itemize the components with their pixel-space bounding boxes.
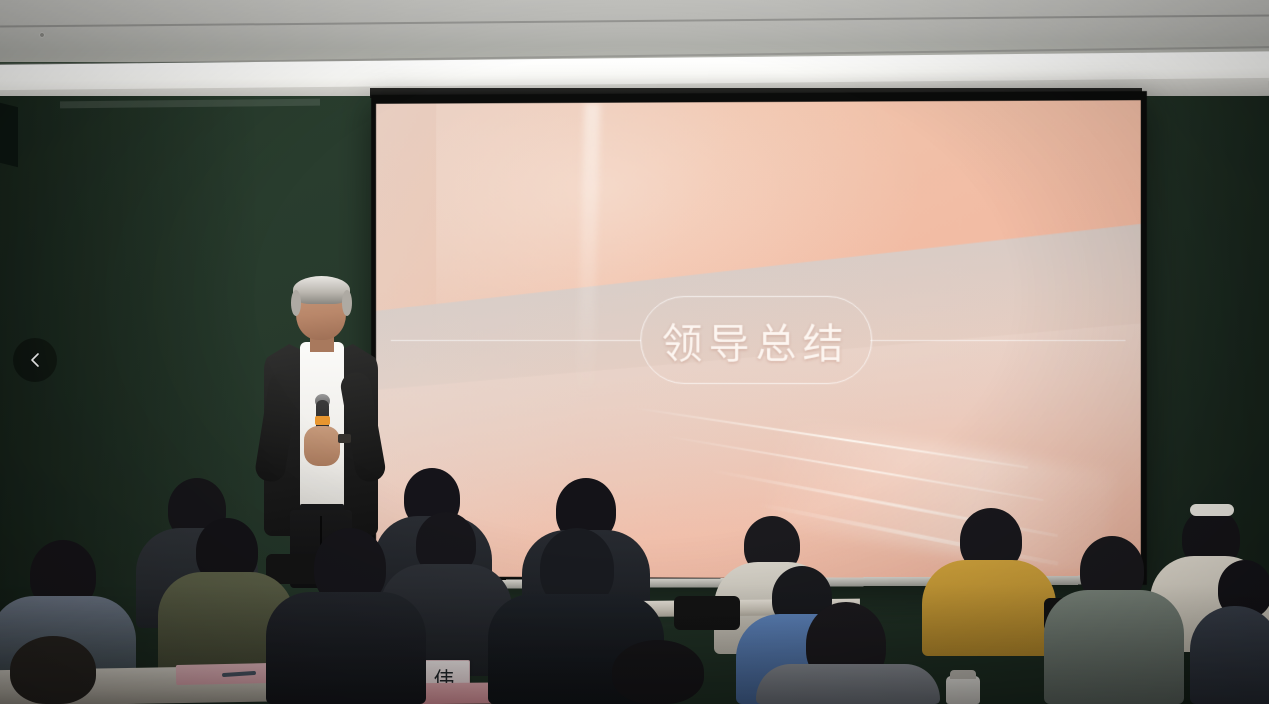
chevron-left-icon <box>26 351 44 369</box>
presenter-hair-side <box>291 290 301 316</box>
audience-body <box>756 664 940 704</box>
projection-screen: 领导总结 <box>371 91 1147 585</box>
audience-body <box>922 560 1056 656</box>
microphone-band <box>315 416 330 425</box>
slide-rule-right <box>870 340 1125 341</box>
audience-body <box>1044 590 1184 704</box>
slide-title: 领导总结 <box>662 310 850 370</box>
presentation-photo: 领导总结 <box>0 0 1269 704</box>
audience-head <box>612 640 704 704</box>
carousel-prev-button[interactable] <box>13 338 57 382</box>
audience-head <box>10 636 96 704</box>
audience-body <box>1190 606 1269 704</box>
audience-headband <box>1190 504 1234 516</box>
presenter-hands <box>304 426 340 466</box>
slide-title-pill: 领导总结 <box>640 296 872 384</box>
slide-rule-left <box>391 340 641 341</box>
audience-body <box>266 592 426 704</box>
ceiling-fixture-dot <box>40 33 44 37</box>
thermos <box>946 676 980 704</box>
presenter-hair-side <box>342 290 352 316</box>
thermos-cap <box>950 670 976 679</box>
ceiling-corner-object <box>0 101 18 167</box>
presenter-watch <box>338 434 351 443</box>
chair-back <box>674 596 740 630</box>
slide-surface: 领导总结 <box>376 100 1141 580</box>
